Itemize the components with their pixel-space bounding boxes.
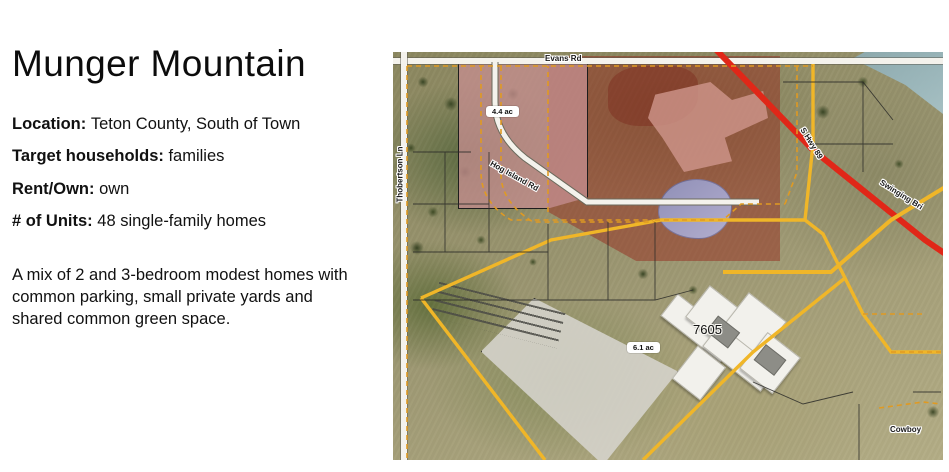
- spec-location-key: Location: [12, 115, 81, 133]
- spec-units: # of Units: 48 single-family homes: [12, 211, 374, 232]
- spec-rent-own-value: own: [99, 180, 129, 198]
- cadastral-lines: [393, 52, 943, 460]
- text-column: Munger Mountain Location: Teton County, …: [12, 44, 374, 331]
- spec-location-value: Teton County, South of Town: [91, 115, 300, 133]
- map-label-robertson-ln: Thobertson Ln: [396, 147, 405, 203]
- spec-units-key: # of Units:: [12, 212, 93, 230]
- slide-root: Munger Mountain Location: Teton County, …: [0, 0, 949, 472]
- aerial-map-image: Evans Rd Thobertson Ln Hog Island Rd S H…: [393, 52, 943, 460]
- map-label-building-number: 7605: [693, 322, 722, 337]
- spec-target-households: Target households: families: [12, 146, 374, 167]
- spec-target-households-value: families: [168, 147, 224, 165]
- map-label-cowboy: Cowboy: [890, 425, 921, 434]
- map-label-evans-rd: Evans Rd: [545, 54, 581, 63]
- spec-rent-own: Rent/Own: own: [12, 179, 374, 200]
- page-title: Munger Mountain: [12, 44, 374, 84]
- spec-rent-own-key: Rent/Own: [12, 180, 89, 198]
- spec-location: Location: Teton County, South of Town: [12, 114, 374, 135]
- spec-target-households-key: Target households: [12, 147, 158, 165]
- spec-units-value: 48 single-family homes: [97, 212, 266, 230]
- spec-target-households-sep: :: [158, 147, 168, 165]
- spec-location-sep: :: [81, 115, 91, 133]
- spec-rent-own-sep: :: [89, 180, 99, 198]
- acreage-chip-north: 4.4 ac: [486, 106, 519, 117]
- description-paragraph: A mix of 2 and 3-bedroom modest homes wi…: [12, 265, 357, 331]
- acreage-chip-south: 6.1 ac: [627, 342, 660, 353]
